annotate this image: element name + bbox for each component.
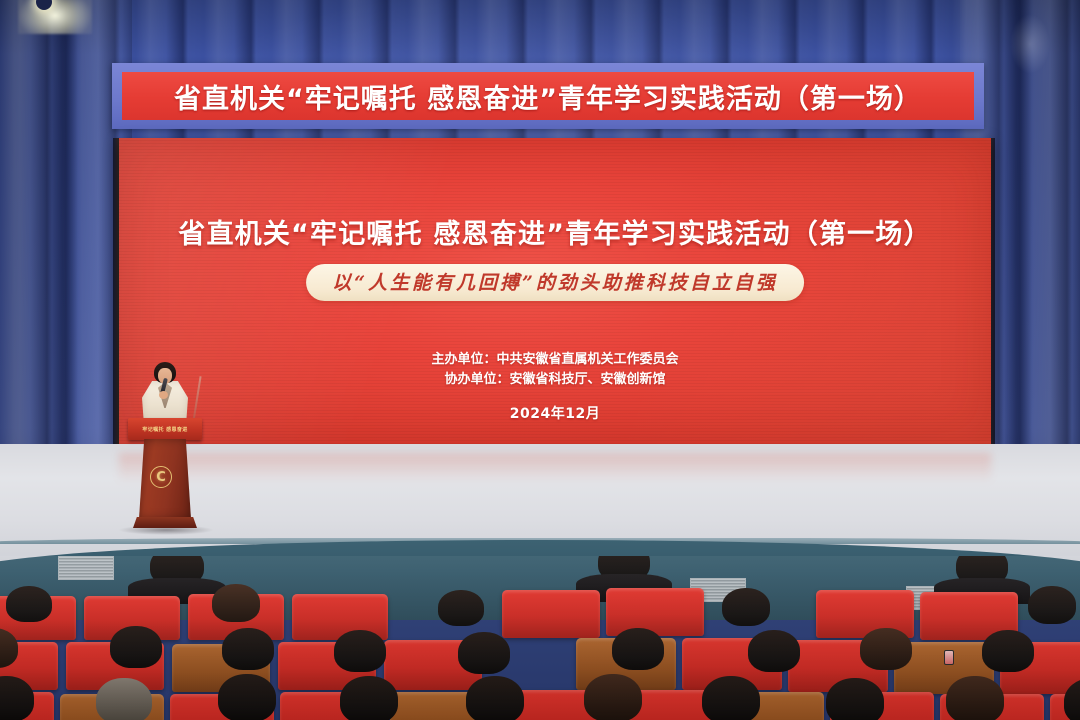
smartphone-icon xyxy=(944,650,954,665)
attendee-head xyxy=(110,626,162,668)
attendee-head xyxy=(438,590,484,626)
attendee-head xyxy=(96,678,152,720)
attendee-head xyxy=(218,674,276,720)
attendee-head xyxy=(212,584,260,622)
screen-subtitle-ribbon: 以“人生能有几回搏”的劲头助推科技自立自强 xyxy=(306,264,804,301)
top-banner-text: 省直机关“牢记嘱托 感恩奋进”青年学习实践活动（第一场） xyxy=(174,77,922,116)
podium: 牢记嘱托 感恩奋进 C xyxy=(128,418,202,532)
attendee-head xyxy=(340,676,398,720)
screen-title: 省直机关“牢记嘱托 感恩奋进”青年学习实践活动（第一场） xyxy=(119,212,991,251)
attendee-head xyxy=(826,678,884,720)
podium-sign: 牢记嘱托 感恩奋进 xyxy=(128,418,202,440)
screen-subtitle-text: 以“人生能有几回搏”的劲头助推科技自立自强 xyxy=(332,272,778,294)
attendee-head xyxy=(458,632,510,674)
attendee-head xyxy=(982,630,1034,672)
attendee-head xyxy=(334,630,386,672)
podium-sign-text: 牢记嘱托 感恩奋进 xyxy=(142,426,187,433)
event-date: 2024年12月 xyxy=(119,404,991,424)
spotlight-icon xyxy=(18,0,92,34)
attendee-head xyxy=(612,628,664,670)
audience-area xyxy=(0,556,1080,720)
attendee-head xyxy=(946,676,1004,720)
screen-organizer-block: 主办单位：中共安徽省直属机关工作委员会 协办单位：安徽省科技厅、安徽创新馆 20… xyxy=(119,350,991,424)
attendee-head xyxy=(702,676,760,720)
speaker-hand xyxy=(159,391,168,399)
auditorium-seat xyxy=(606,588,704,636)
attendee-head xyxy=(584,674,642,720)
floor-red-reflection xyxy=(119,453,991,483)
attendee-head xyxy=(860,628,912,670)
organizer-line: 主办单位：中共安徽省直属机关工作委员会 xyxy=(119,350,991,370)
podium-base xyxy=(133,517,197,528)
event-stage-photo: 省直机关“牢记嘱托 感恩奋进”青年学习实践活动（第一场） 省直机关“牢记嘱托 感… xyxy=(0,0,1080,720)
podium-emblem-icon: C xyxy=(150,466,172,488)
speaker-person xyxy=(139,362,191,422)
attendee-head xyxy=(466,676,524,720)
attendee-head xyxy=(1028,586,1076,624)
curtain-highlight-right xyxy=(1010,14,1050,74)
attendee-head xyxy=(222,628,274,670)
attendee-head xyxy=(6,586,52,622)
attendee-head xyxy=(722,588,770,626)
co-organizer-line: 协办单位：安徽省科技厅、安徽创新馆 xyxy=(119,370,991,390)
top-banner-panel: 省直机关“牢记嘱托 感恩奋进”青年学习实践活动（第一场） xyxy=(122,72,974,120)
led-display-screen: 省直机关“牢记嘱托 感恩奋进”青年学习实践活动（第一场） 以“人生能有几回搏”的… xyxy=(119,138,991,444)
top-banner: 省直机关“牢记嘱托 感恩奋进”青年学习实践活动（第一场） xyxy=(112,63,984,129)
attendee-head xyxy=(748,630,800,672)
auditorium-seat xyxy=(502,590,600,638)
